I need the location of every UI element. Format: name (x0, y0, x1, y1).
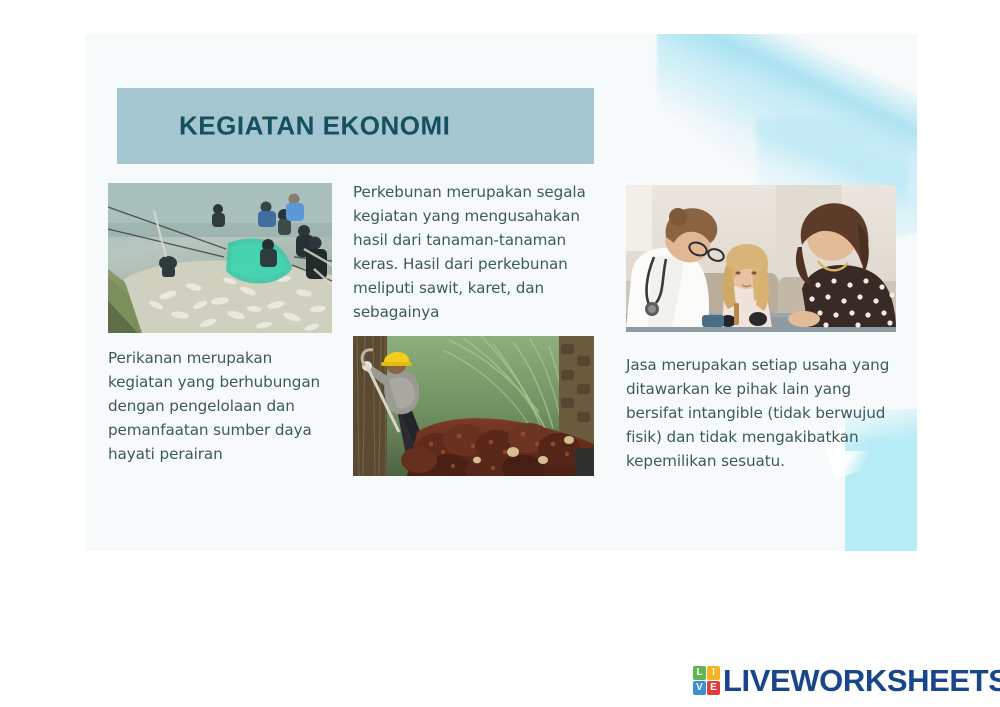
paragraph-perkebunan: Perkebunan merupakan segala kegiatan yan… (353, 180, 601, 324)
logo-tile-l: L (693, 666, 706, 680)
column-perkebunan: Perkebunan merupakan segala kegiatan yan… (353, 180, 601, 476)
caption-jasa: Jasa merupakan setiap usaha yang ditawar… (626, 353, 901, 473)
column-jasa: Jasa merupakan setiap usaha yang ditawar… (626, 185, 901, 473)
title-banner: KEGIATAN EKONOMI (117, 88, 594, 164)
logo-tile-e: E (707, 681, 720, 695)
fishing-photo (108, 183, 332, 333)
liveworksheets-tiles-icon: L I V E (693, 666, 720, 695)
column-perikanan: Perikanan merupakan kegiatan yang berhub… (108, 183, 340, 466)
logo-tile-v: V (693, 681, 706, 695)
caption-perikanan: Perikanan merupakan kegiatan yang berhub… (108, 346, 340, 466)
palm-oil-harvest-photo (353, 336, 594, 476)
liveworksheets-logo[interactable]: L I V E LIVEWORKSHEETS (693, 665, 1000, 696)
worksheet-page: KEGIATAN EKONOMI (0, 0, 1000, 707)
logo-tile-i: I (707, 666, 720, 680)
medical-service-photo (626, 185, 896, 332)
page-title: KEGIATAN EKONOMI (179, 111, 450, 142)
slide-canvas: KEGIATAN EKONOMI (85, 34, 917, 551)
liveworksheets-wordmark: LIVEWORKSHEETS (723, 665, 1000, 696)
